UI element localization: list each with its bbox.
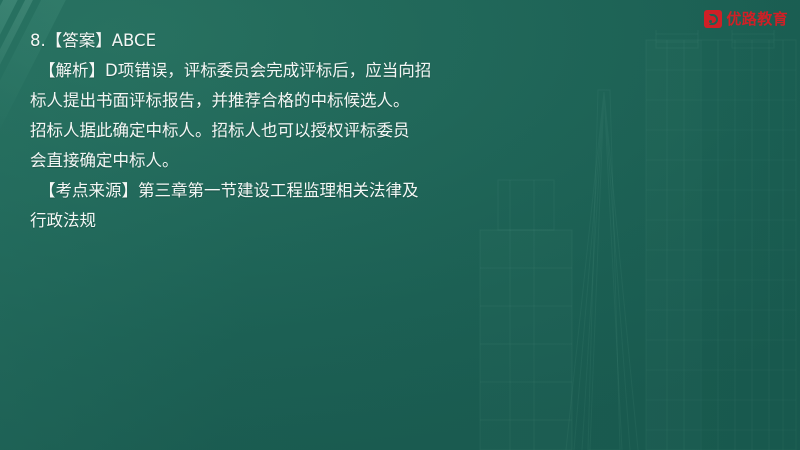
text-line-source-1: 【考点来源】第三章第一节建设工程监理相关法律及 bbox=[30, 176, 600, 206]
text-line-analysis-1: 【解析】D项错误，评标委员会完成评标后，应当向招 bbox=[30, 56, 600, 86]
youlu-logo-mark-icon bbox=[704, 10, 722, 28]
text-line-analysis-3: 招标人据此确定中标人。招标人也可以授权评标委员 bbox=[30, 116, 600, 146]
brand-logo-text: 优路教育 bbox=[726, 10, 788, 28]
text-line-analysis-2: 标人提出书面评标报告，并推荐合格的中标候选人。 bbox=[30, 86, 600, 116]
text-line-analysis-4: 会直接确定中标人。 bbox=[30, 146, 600, 176]
text-line-answer: 8.【答案】ABCE bbox=[30, 26, 600, 56]
brand-logo: 优路教育 bbox=[704, 8, 788, 30]
slide-canvas: 优路教育 8.【答案】ABCE 【解析】D项错误，评标委员会完成评标后，应当向招… bbox=[0, 0, 800, 450]
answer-explanation-text: 8.【答案】ABCE 【解析】D项错误，评标委员会完成评标后，应当向招 标人提出… bbox=[30, 26, 600, 236]
text-line-source-2: 行政法规 bbox=[30, 206, 600, 236]
